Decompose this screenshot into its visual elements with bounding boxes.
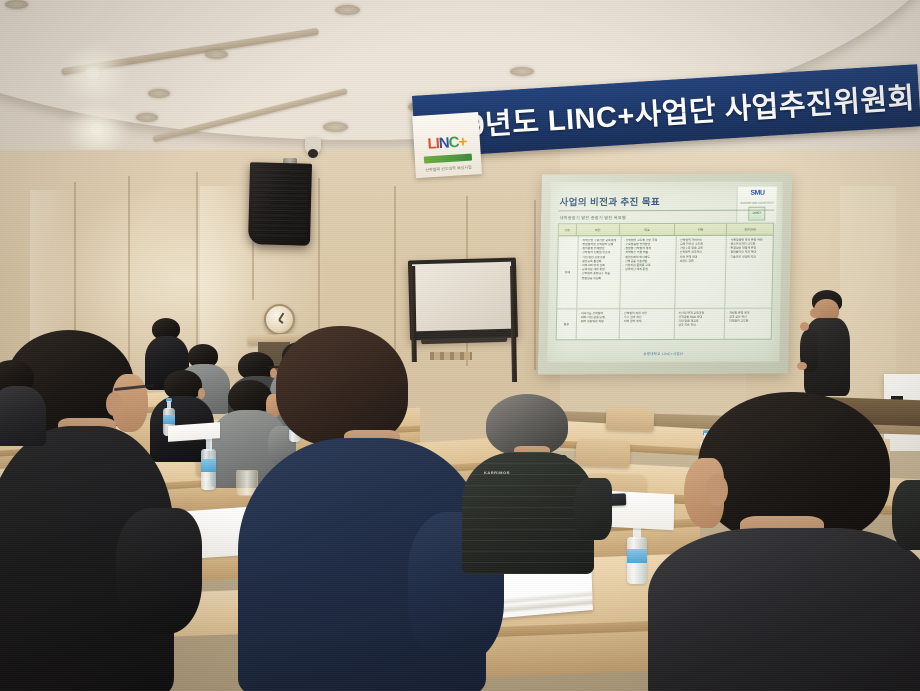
presenter-hand-lower xyxy=(797,362,807,370)
slide-li: · 성과 지표 관리 xyxy=(676,323,722,327)
slide-table-row: 향후 · 지속가능 산학협력 · 대학-기업 상생 모델 · 협력 네트워크 확… xyxy=(556,308,771,339)
downlight-7 xyxy=(323,122,348,132)
slide-li: · 현장실습 내실화 xyxy=(580,276,618,280)
bottle-body xyxy=(627,537,647,584)
attendee-torso xyxy=(0,386,46,446)
screen-surface: SMU SANGMYUNG UNIVERSITY LINC+ 사업의 비전과 추… xyxy=(538,174,792,375)
wall-panel-seam-5 xyxy=(318,178,320,350)
wall-panel-seam-8 xyxy=(534,200,536,370)
attendee-arm-right-edge xyxy=(892,480,920,550)
slide-row-label-1: 향후 xyxy=(556,309,577,340)
attendee-front-right xyxy=(648,392,920,691)
slide-table-header: 구분 비전 목표 전략 추진과제 xyxy=(559,224,774,236)
downlight-10 xyxy=(510,67,534,76)
downlight-5 xyxy=(148,89,170,98)
attendee-sleeve xyxy=(116,508,202,634)
presentation-slide: SMU SANGMYUNG UNIVERSITY LINC+ 사업의 비전과 추… xyxy=(547,182,783,363)
slide-row0-col3: · 사회맞춤형 학과 운영 확대 · 캡스톤디자인 고도화 · 현장실습 학점제… xyxy=(726,235,773,307)
slide-th-0: 구분 xyxy=(559,225,577,235)
downlight-4 xyxy=(205,50,228,59)
slide-li: · 브랜드 강화 xyxy=(678,259,724,263)
projection-screen: SMU SANGMYUNG UNIVERSITY LINC+ 사업의 비전과 추… xyxy=(538,174,792,375)
slide-th-4: 추진과제 xyxy=(727,224,773,235)
slide-li: · 지역 정착 체계 xyxy=(622,319,672,323)
bottle-label xyxy=(627,549,647,563)
downlight-on-1 xyxy=(84,66,102,82)
downlight-6 xyxy=(136,113,158,122)
smu-logo-subtext: SANGMYUNG UNIVERSITY xyxy=(737,201,777,204)
slide-row1-col3: · 자립형 운영 체계 · 성과 공유 확산 · 지역협력 고도화 xyxy=(725,308,772,339)
banner-logo-plate: LINC+ 산학협력 선도대학 육성사업 xyxy=(412,112,482,178)
slide-row-label-0: 현재 xyxy=(557,236,579,308)
slide-th-1: 비전 xyxy=(576,225,619,235)
slide-row1-col0: · 지속가능 산학협력 · 대학-기업 상생 모델 · 협력 네트워크 확장 xyxy=(577,309,621,340)
slide-row1-col1: · 산학협력 자립 기반 · 우수 성과 확산 · 지역 정착 체계 xyxy=(620,309,675,340)
clock-hand-hour xyxy=(278,319,283,324)
slide-row0-col1: · 산학협력 고도화 기반 구축 · 수요맞춤형 인력양성 · 쌍방향 산학협력… xyxy=(620,236,676,308)
security-camera xyxy=(305,137,321,155)
water-bottle-near-right[interactable] xyxy=(627,520,647,584)
attendee-torso xyxy=(648,528,920,691)
downlight-9 xyxy=(5,0,28,9)
slide-footer: 상명대학교 LINC+사업단 xyxy=(547,350,780,356)
slide-row0-col0: · 지역산업 수요기반 교육체계 · 현장밀착형 산학협력 모델 · 창의융합 … xyxy=(577,236,622,308)
slide-title: 사업의 비전과 추진 목표 xyxy=(559,194,660,208)
whiteboard-surface xyxy=(412,262,513,332)
slide-th-2: 목표 xyxy=(620,224,676,235)
smu-logo-icon: SMU xyxy=(738,190,778,197)
slide-th-3: 전략 xyxy=(675,224,727,235)
downlight-on-2 xyxy=(88,122,105,137)
vest-brand-text: KARRIMOR xyxy=(484,470,510,475)
camera-lens xyxy=(308,149,318,158)
slide-logo-block: SMU SANGMYUNG UNIVERSITY LINC+ xyxy=(736,186,777,224)
attendee-ear xyxy=(106,392,122,416)
slide-table: 구분 비전 목표 전략 추진과제 현재 · 지역산업 수요기반 교육체계 · 현… xyxy=(555,223,774,341)
attendee-front-center xyxy=(238,326,498,691)
attendee-edge-left xyxy=(0,360,50,440)
lincplus-logo-subtext: 산학협력 선도대학 육성사업 xyxy=(415,164,481,174)
presenter xyxy=(796,290,856,400)
attendee-mid-vest: KARRIMOR xyxy=(462,394,602,574)
speaker-grille xyxy=(252,169,308,238)
slide-row0-col2: · 산학협력 거버넌스 · 교육 인프라 고도화 · 기업수요 맞춤 교육 · … xyxy=(675,236,727,308)
slide-li: · 기술이전 사업화 지원 xyxy=(729,254,771,258)
presenter-hand-upper xyxy=(800,322,809,331)
water-bottle-mid-1[interactable] xyxy=(201,434,216,490)
presenter-face xyxy=(810,308,820,318)
ceiling-speaker xyxy=(248,162,312,246)
bottle-label xyxy=(201,459,216,471)
slide-li: · 성과확산 체계 운영 xyxy=(623,267,673,271)
downlight-3 xyxy=(335,5,360,15)
attendee-sleeve xyxy=(574,478,612,540)
attendee-ear xyxy=(706,474,728,506)
lincplus-logo-icon: LINC+ xyxy=(413,132,480,153)
slide-subtitle: 대학중장기 발전 중장기 발전 목표별 xyxy=(560,215,626,221)
slide-row1-col2: · 신산업 연계 교육과정 · 산학공동 R&D 확대 · 기업 맞춤 재교육 … xyxy=(674,309,725,340)
slide-li: · 지역협력 고도화 xyxy=(727,319,769,323)
bottle-body xyxy=(201,449,216,490)
slide-li: · 협력 네트워크 확장 xyxy=(579,319,617,323)
attendee-ear xyxy=(198,388,205,399)
slide-table-row: 현재 · 지역산업 수요기반 교육체계 · 현장밀착형 산학협력 모델 · 창의… xyxy=(557,235,773,309)
meeting-room-photo: 2019년도 LINC+사업단 사업추진위원회 LINC+ 산학협력 선도대학 … xyxy=(0,0,920,691)
lincplus-logo-bar xyxy=(424,154,472,164)
slide-lincplus-badge-text: LINC+ xyxy=(749,210,764,214)
attendee-hair xyxy=(276,326,408,446)
